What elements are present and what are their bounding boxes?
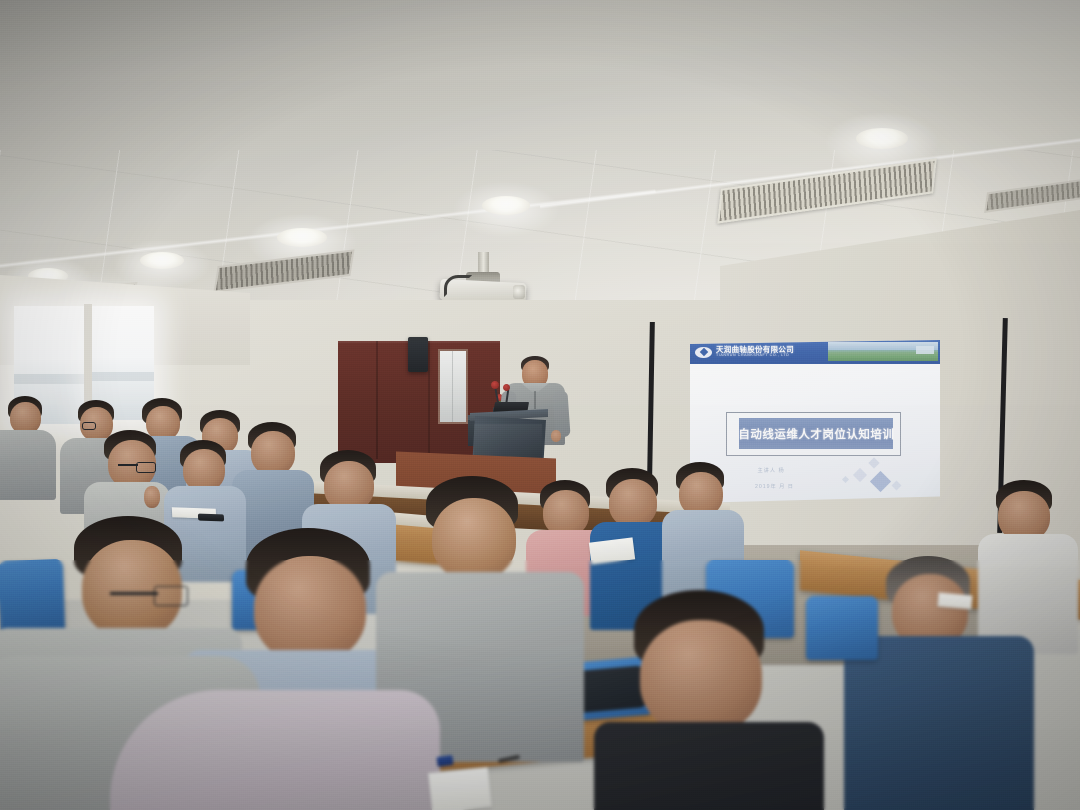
presenter-right-hand <box>551 430 561 442</box>
ceiling-dome-light-3 <box>277 228 327 247</box>
phone-on-desk <box>198 514 224 522</box>
slide-banner-image <box>828 342 938 361</box>
microphone-head-2 <box>503 384 510 391</box>
white-panel-line <box>452 351 453 422</box>
audience-head <box>254 556 366 662</box>
ceiling-dome-light-2 <box>140 252 184 269</box>
company-logo-icon <box>695 347 712 358</box>
slide-subtitle-line-1: 主讲人 杨 <box>758 467 785 474</box>
audience-torso <box>594 722 824 810</box>
audience-head <box>251 431 295 475</box>
audience-torso <box>844 636 1034 810</box>
audience-torso <box>110 690 440 810</box>
audience-head <box>432 498 516 580</box>
slide-diamond-1 <box>841 476 848 483</box>
ceiling-dome-light-4 <box>482 196 530 215</box>
audience-head <box>640 620 762 734</box>
paper-foreground <box>428 767 492 810</box>
audience-glasses-arm <box>118 464 138 466</box>
slide-title-box: 自动线运维人才岗位认知培训 <box>739 418 893 449</box>
ceiling-dome-light-5 <box>856 128 908 149</box>
audience-glasses <box>136 462 156 473</box>
wood-panel-seam-2 <box>428 341 430 459</box>
audience-head <box>609 479 657 527</box>
chair[interactable] <box>0 559 65 635</box>
projector-lens <box>513 285 525 299</box>
audience-glasses <box>154 586 188 606</box>
projector-cable <box>444 275 472 297</box>
slide-title-frame: 自动线运维人才岗位认知培训 <box>726 412 901 456</box>
projection-screen: 天润曲轴股份有限公司 TIANRUN CRANKSHAFT CO., LTD 自… <box>690 340 940 503</box>
audience-glasses-arm <box>110 592 158 595</box>
audience-torso <box>0 430 56 500</box>
audience-glasses <box>82 422 96 430</box>
presenter-shirt-placket <box>534 391 536 409</box>
white-wall-panel <box>438 349 468 424</box>
slide-company-name: 天润曲轴股份有限公司 TIANRUN CRANKSHAFT CO., LTD <box>716 346 794 358</box>
slide-diamond-4 <box>868 457 879 468</box>
wall-speaker <box>408 337 428 372</box>
slide-diamond-2 <box>853 468 867 482</box>
slide-diamond-5 <box>891 480 901 490</box>
slide-diamond-3 <box>869 471 890 492</box>
audience-hand <box>144 486 160 508</box>
slide-subtitle-line-2: 2019年 月 日 <box>755 483 794 490</box>
paper-note-right <box>937 593 972 610</box>
slide-header-bar: 天润曲轴股份有限公司 TIANRUN CRANKSHAFT CO., LTD <box>690 340 940 364</box>
audience-head <box>183 449 225 491</box>
banner-chip <box>916 346 934 354</box>
wood-panel-seam <box>376 341 378 459</box>
audience-head <box>146 406 180 440</box>
microphone-head-1 <box>491 381 499 389</box>
photo-scene: 天润曲轴股份有限公司 TIANRUN CRANKSHAFT CO., LTD 自… <box>0 0 1080 810</box>
slide-title: 自动线运维人才岗位认知培训 <box>738 426 894 442</box>
company-name-en: TIANRUN CRANKSHAFT CO., LTD <box>716 354 794 358</box>
chair[interactable] <box>806 596 878 660</box>
